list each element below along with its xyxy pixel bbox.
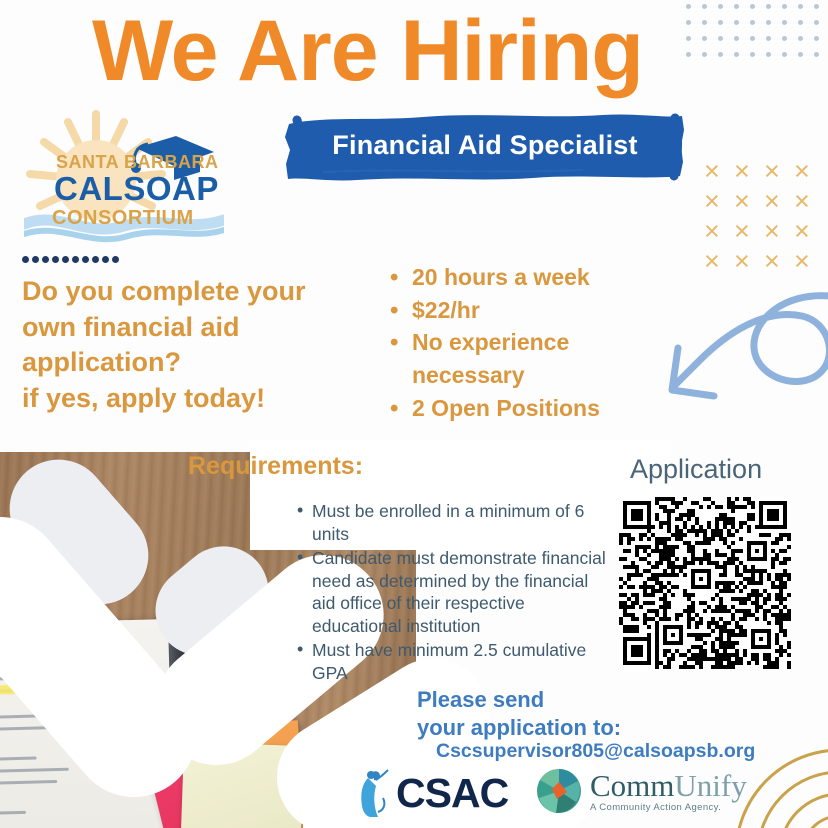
application-qr-code[interactable] — [619, 497, 791, 669]
x-mark-icon: × — [704, 218, 720, 245]
dot-grid-decor — [686, 4, 826, 58]
requirement-item: Candidate must demonstrate financial nee… — [296, 547, 612, 637]
csac-logo: CSAC — [356, 768, 508, 818]
x-mark-icon: × — [764, 248, 780, 275]
send-line-1: Please send — [417, 686, 621, 714]
x-mark-icon: × — [734, 248, 750, 275]
x-grid-decor: ×××××××××××××××× — [704, 158, 814, 268]
csac-wordmark: CSAC — [396, 773, 508, 814]
perk-item: $22/hr — [390, 295, 665, 327]
application-label: Application — [630, 454, 762, 485]
question-text: Do you complete your own financial aid a… — [22, 274, 378, 417]
x-mark-icon: × — [704, 158, 720, 185]
send-line-2: your application to: — [417, 714, 621, 742]
x-mark-icon: × — [764, 158, 780, 185]
question-line-2: own financial aid — [22, 310, 378, 346]
communify-unify: Unify — [674, 768, 746, 803]
dot-row-decor — [22, 256, 122, 264]
logo-line-santa-barbara: SANTA BARBARA — [56, 152, 219, 172]
perk-item: 2 Open Positions — [390, 393, 665, 425]
x-mark-icon: × — [734, 188, 750, 215]
perks-list: 20 hours a week$22/hrNo experiencenecess… — [390, 262, 665, 426]
x-mark-icon: × — [734, 158, 750, 185]
communify-tagline: A Community Action Agency. — [590, 803, 747, 813]
hiring-flyer: ×××××××××××××××× We Are Hiring Financial… — [0, 0, 828, 828]
graduate-figure-icon — [356, 768, 390, 818]
question-line-1: Do you complete your — [22, 274, 378, 310]
communify-mosaic-icon — [536, 768, 582, 814]
requirement-item: Must have minimum 2.5 cumulative GPA — [296, 639, 612, 684]
perk-item: necessary — [390, 360, 665, 392]
job-title-text: Financial Aid Specialist — [283, 110, 687, 182]
x-mark-icon: × — [794, 248, 810, 275]
requirements-title: Requirements: — [188, 452, 363, 481]
requirements-list: Must be enrolled in a minimum of 6 units… — [296, 500, 612, 687]
job-title-banner: Financial Aid Specialist — [283, 110, 687, 182]
logo-line-consortium: CONSORTIUM — [52, 207, 194, 229]
x-mark-icon: × — [794, 188, 810, 215]
x-mark-icon: × — [764, 188, 780, 215]
x-mark-icon: × — [704, 188, 720, 215]
x-mark-icon: × — [794, 218, 810, 245]
logo-line-calsoap: CALSOAP — [54, 170, 219, 207]
contact-email[interactable]: Cscsupervisor805@calsoapsb.org — [436, 740, 755, 763]
question-line-4: if yes, apply today! — [22, 381, 378, 417]
calsoap-logo: SANTA BARBARA CALSOAP CONSORTIUM — [24, 108, 224, 248]
communify-logo: CommUnify A Community Action Agency. — [536, 768, 747, 814]
perk-item: 20 hours a week — [390, 262, 665, 294]
question-line-3: application? — [22, 345, 378, 381]
perk-item: No experience — [390, 327, 665, 359]
x-mark-icon: × — [794, 158, 810, 185]
x-mark-icon: × — [734, 218, 750, 245]
requirement-item: Must be enrolled in a minimum of 6 units — [296, 500, 612, 545]
communify-comm: Comm — [590, 768, 674, 803]
x-mark-icon: × — [764, 218, 780, 245]
page-title: We Are Hiring — [92, 6, 643, 96]
send-application-heading: Please send your application to: — [417, 686, 621, 741]
x-mark-icon: × — [704, 248, 720, 275]
